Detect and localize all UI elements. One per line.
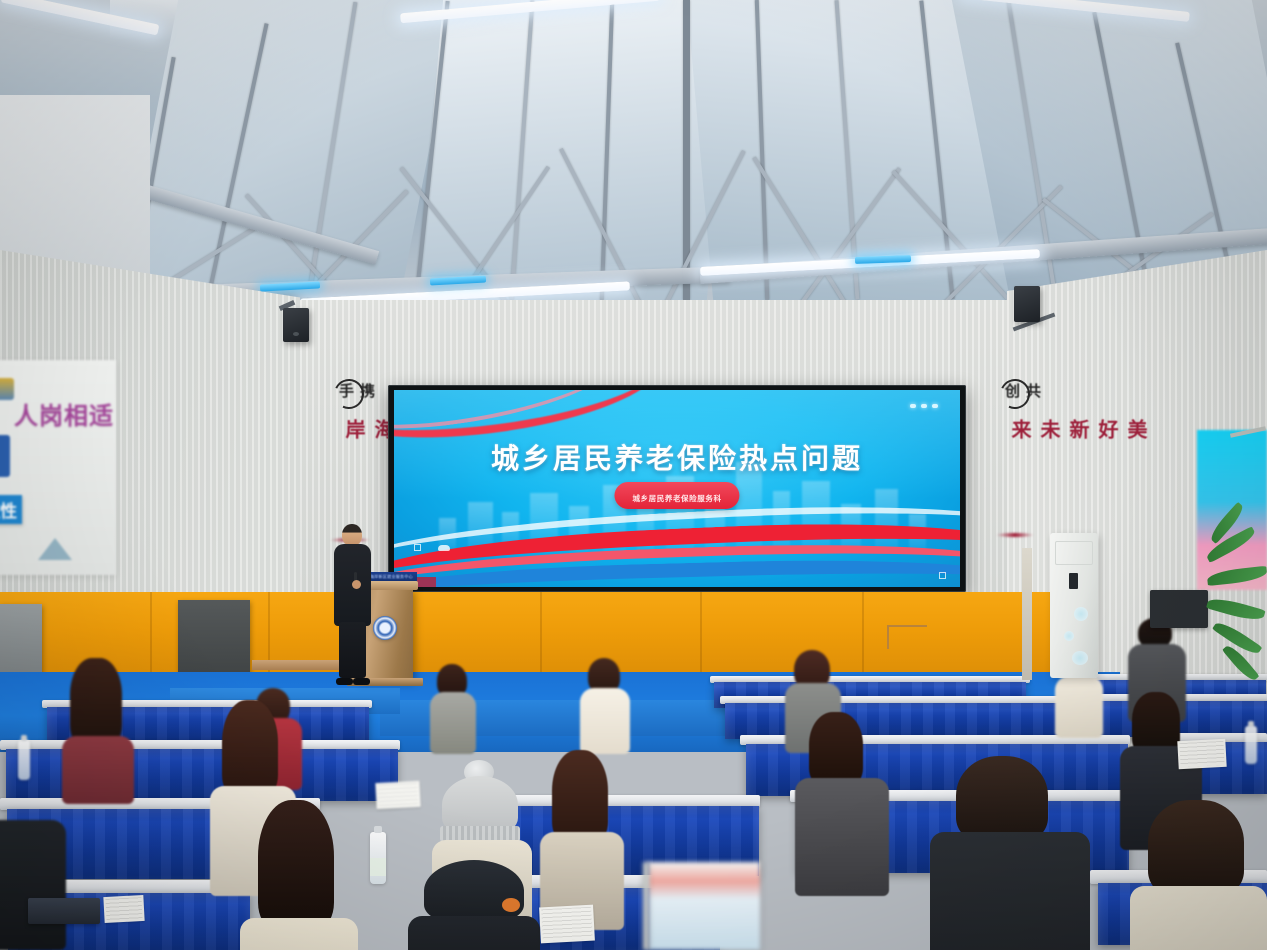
- stage-panel-outline-2: [887, 625, 889, 649]
- floor-standing-banner: [648, 862, 760, 950]
- stage-panel-outline: [887, 625, 927, 627]
- wall-speaker-icon: [1014, 286, 1040, 322]
- water-bottle-icon: [18, 740, 30, 780]
- air-conditioner-icon: [1050, 533, 1098, 678]
- circular-government-emblem: [373, 616, 397, 640]
- presenter-hand: [352, 580, 361, 589]
- beanie-icon: [424, 860, 524, 922]
- paper-sheet-icon: [103, 895, 144, 923]
- calligraphy-right-top: 共创: [1002, 383, 1044, 399]
- slide-subtitle-text: 城乡居民养老保险服务科: [632, 494, 721, 503]
- door-frame: [1022, 548, 1032, 680]
- paper-sheet-icon: [1177, 739, 1226, 769]
- photo-scene: 携手 青岛西海岸 共创 美好新未来 人岗相适 定性: [0, 0, 1267, 950]
- paper-sheet-icon: [375, 781, 420, 809]
- slide-subtitle-pill: 城乡居民养老保险服务科: [614, 482, 739, 509]
- poster-headline: 人岗相适: [14, 396, 114, 431]
- poster-badge: 定性: [0, 495, 22, 524]
- slide-menu-dots-icon[interactable]: [910, 404, 938, 408]
- calligraphy-right-main: 美好新未来: [1006, 419, 1151, 441]
- calligraphy-left-top: 携手: [336, 383, 378, 399]
- presenter-legs: [339, 622, 366, 678]
- slide-corner-icon-right: [939, 572, 946, 579]
- presentation-slide: 城乡居民养老保险热点问题 城乡居民养老保险服务科: [394, 390, 960, 587]
- slide-title: 城乡居民养老保险热点问题: [394, 437, 960, 477]
- potted-palm-icon: [1192, 520, 1267, 690]
- slide-corner-icon-left: [414, 544, 421, 551]
- presenter-head: [342, 524, 362, 546]
- floor-standing-banner-frame: [643, 862, 649, 950]
- water-bottle-icon: [1245, 726, 1257, 764]
- water-bottle-icon: [370, 832, 386, 884]
- hair-tie: [502, 898, 520, 912]
- wall-speaker-icon: [283, 308, 309, 342]
- slide-cloud-icon: [438, 545, 450, 551]
- led-display-screen[interactable]: 城乡居民养老保险热点问题 城乡居民养老保险服务科: [388, 385, 966, 592]
- presenter-shoe-left: [336, 678, 353, 685]
- paper-sheet-icon: [539, 905, 595, 944]
- presenter-shoe-right: [353, 678, 370, 685]
- left-wall-poster: 人岗相适 定性: [0, 360, 116, 575]
- presenter-person: [333, 524, 373, 682]
- notebook-icon: [28, 898, 100, 924]
